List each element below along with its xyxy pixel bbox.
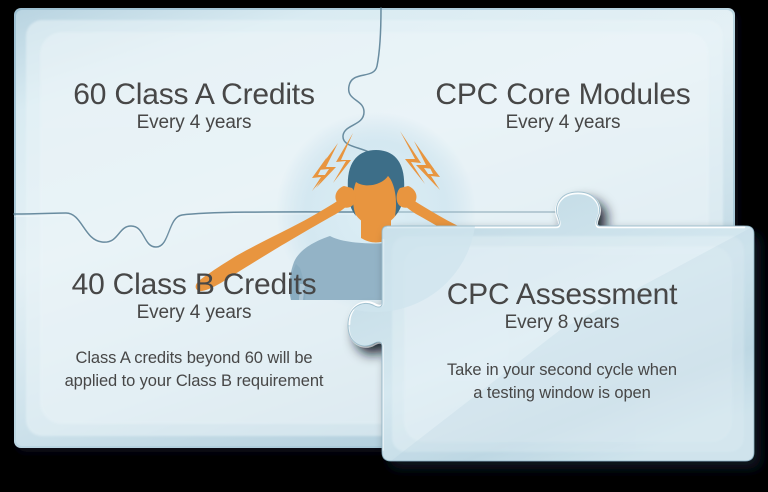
cpc-assessment-text-block: CPC Assessment Every 8 years Take in you… (390, 278, 734, 405)
puzzle-infographic: 60 Class A Credits Every 4 years CPC Cor… (0, 0, 768, 492)
cpc-assessment-note-line-1: Take in your second cycle when (390, 359, 734, 382)
class-b-text-block: 40 Class B Credits Every 4 years Class A… (14, 268, 374, 393)
class-b-note-line-2: applied to your Class B requirement (14, 370, 374, 393)
class-a-text-block: 60 Class A Credits Every 4 years (14, 78, 374, 133)
cpc-assessment-subheading: Every 8 years (390, 312, 734, 333)
cpc-core-modules-heading: CPC Core Modules (392, 78, 734, 112)
class-b-note: Class A credits beyond 60 will be applie… (14, 347, 374, 393)
class-a-subheading: Every 4 years (14, 112, 374, 133)
cpc-assessment-note: Take in your second cycle when a testing… (390, 359, 734, 405)
cpc-assessment-note-line-2: a testing window is open (390, 382, 734, 405)
cpc-assessment-heading: CPC Assessment (390, 278, 734, 312)
class-a-heading: 60 Class A Credits (14, 78, 374, 112)
cpc-core-modules-text-block: CPC Core Modules Every 4 years (392, 78, 734, 133)
cpc-core-modules-subheading: Every 4 years (392, 112, 734, 133)
class-b-subheading: Every 4 years (14, 302, 374, 323)
class-b-note-line-1: Class A credits beyond 60 will be (14, 347, 374, 370)
class-b-heading: 40 Class B Credits (14, 268, 374, 302)
cpc-assessment-piece (0, 0, 768, 492)
